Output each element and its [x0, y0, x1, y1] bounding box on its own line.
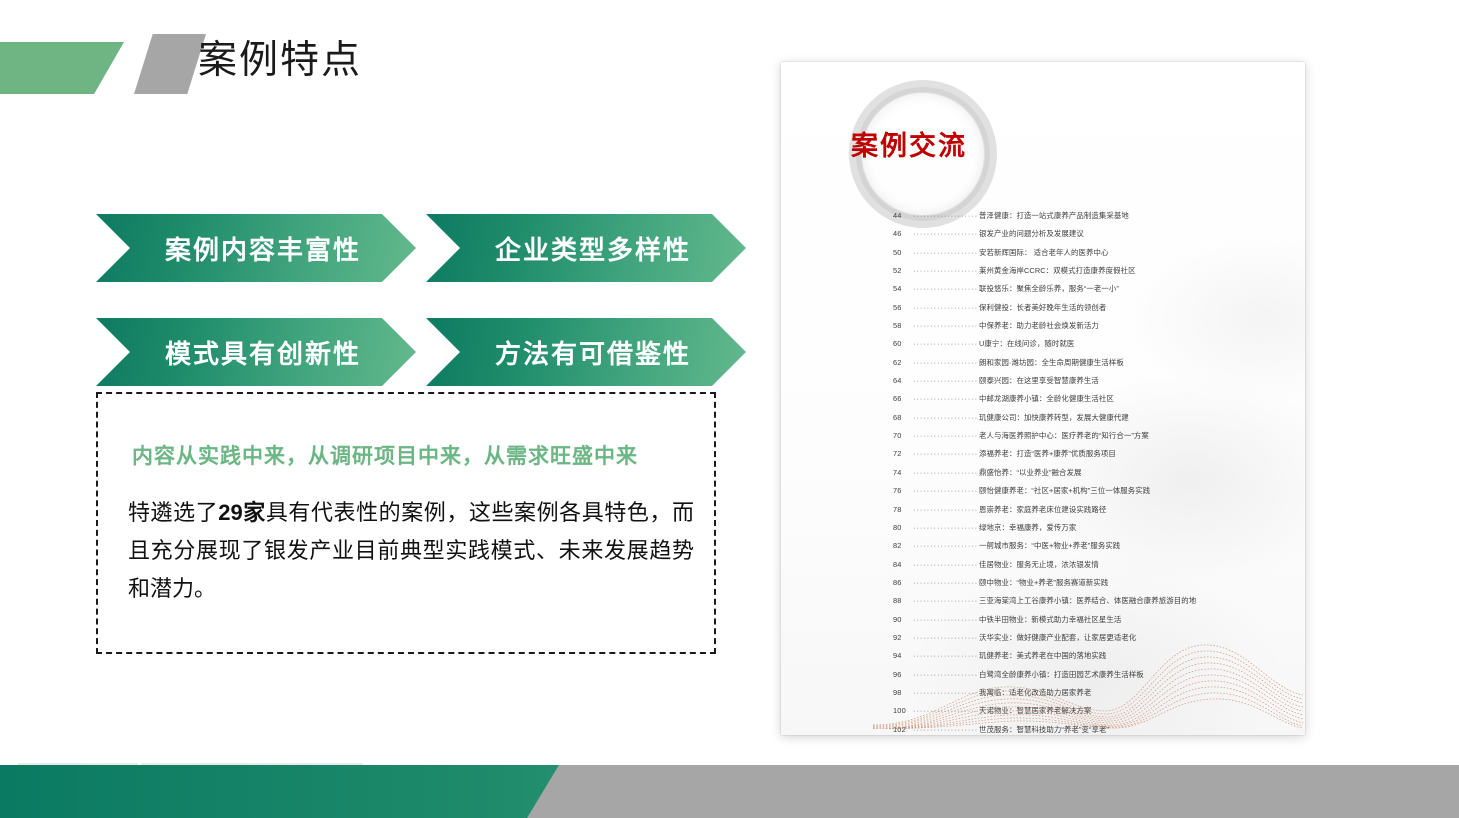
toc-entry-label: 绿地京：幸福康养，爱传万家	[979, 524, 1283, 531]
toc-entry-label: 银发产业的问题分析及发展建议	[979, 230, 1283, 237]
toc-page-number: 84	[893, 561, 913, 568]
toc-row: 44·······················普泽健康：打造一站式康养产品制…	[893, 212, 1283, 220]
toc-entry-label: 颐中物业：“物业+养老”服务赛道新实践	[979, 579, 1283, 586]
toc-page-number: 52	[893, 267, 913, 274]
toc-page-number: 72	[893, 450, 913, 457]
toc-page-number: 90	[893, 616, 913, 623]
toc-page-number: 82	[893, 542, 913, 549]
toc-leader-dots: ·······················	[913, 378, 979, 385]
toc-row: 50·······················安若新辉国际： 适合老年人的医…	[893, 249, 1283, 257]
toc-page-number: 46	[893, 230, 913, 237]
toc-leader-dots: ·······················	[913, 617, 979, 624]
mountain-wave-decoration	[873, 625, 1303, 729]
toc-leader-dots: ·······················	[913, 525, 979, 532]
toc-page-number: 78	[893, 506, 913, 513]
toc-page-number: 64	[893, 377, 913, 384]
chevron-banner-1[interactable]: 案例内容丰富性	[96, 214, 416, 282]
toc-page-number: 80	[893, 524, 913, 531]
toc-row: 64·······················颐泰兴园：在这里享受智慧康养生…	[893, 377, 1283, 385]
toc-entry-label: 老人与海医养照护中心：医疗养老的“知行合一”方案	[979, 432, 1283, 439]
chevron-label-1: 案例内容丰富性	[96, 230, 416, 267]
toc-row: 82·······················一舸城市服务：“中医+物业+养…	[893, 542, 1283, 550]
toc-page-number: 66	[893, 395, 913, 402]
toc-row: 68·······················玑健康公司：加快康养转型，发展…	[893, 414, 1283, 422]
toc-entry-label: U康宁：在线问诊，随时就医	[979, 340, 1283, 347]
toc-page-number: 86	[893, 579, 913, 586]
footer-bar	[0, 765, 1459, 818]
toc-leader-dots: ·······················	[913, 598, 979, 605]
toc-leader-dots: ·······················	[913, 213, 979, 220]
toc-page-number: 62	[893, 359, 913, 366]
toc-row: 74·······················鼎盛怡养：“以业养业”融合发展	[893, 469, 1283, 477]
toc-entry-label: 中保养老：助力老龄社会焕发新活力	[979, 322, 1283, 329]
toc-leader-dots: ·······················	[913, 543, 979, 550]
toc-leader-dots: ·······················	[913, 268, 979, 275]
chevron-banner-3[interactable]: 模式具有创新性	[96, 318, 416, 386]
toc-page-number: 74	[893, 469, 913, 476]
callout-box: 内容从实践中来，从调研项目中来，从需求旺盛中来 特遴选了29家具有代表性的案例，…	[96, 392, 716, 654]
toc-row: 52·······················莱州黄金海岸CCRC：双模式打…	[893, 267, 1283, 275]
toc-entry-label: 朗和家园·潍坊园：全生命周期健康生活样板	[979, 359, 1283, 366]
toc-leader-dots: ·······················	[913, 360, 979, 367]
toc-page-number: 44	[893, 212, 913, 219]
toc-entry-label: 颐怡健康养老：“社区+居家+机构”三位一体服务实践	[979, 487, 1283, 494]
chevron-label-2: 企业类型多样性	[426, 230, 746, 267]
toc-leader-dots: ·······················	[913, 305, 979, 312]
header-green-shape	[0, 42, 124, 94]
toc-entry-label: 中邮龙湖康养小镇：全龄化健康生活社区	[979, 395, 1283, 402]
toc-entry-label: 联投悠乐：聚焦全龄乐养，服务“一老一小”	[979, 285, 1283, 292]
toc-leader-dots: ·······················	[913, 507, 979, 514]
toc-row: 54·······················联投悠乐：聚焦全龄乐养，服务“…	[893, 285, 1283, 293]
slide-root: 案例特点 案例内容丰富性 企业类型多样性 模式具有创新性 方法有可借鉴性 内容从…	[0, 0, 1459, 818]
toc-row: 84·······················佳居物业：服务无止境，浓浓银发…	[893, 561, 1283, 569]
toc-page-number: 50	[893, 249, 913, 256]
toc-leader-dots: ·······················	[913, 433, 979, 440]
toc-entry-label: 安若新辉国际： 适合老年人的医养中心	[979, 249, 1283, 256]
toc-leader-dots: ·······················	[913, 231, 979, 238]
toc-row: 56·······················保利健投：长者美好晚年生活的领…	[893, 304, 1283, 312]
callout-heading: 内容从实践中来，从调研项目中来，从需求旺盛中来	[132, 440, 692, 470]
toc-row: 76·······················颐怡健康养老：“社区+居家+机…	[893, 487, 1283, 495]
toc-row: 78·······················恩崇养老：家庭养老床位建设实践…	[893, 506, 1283, 514]
toc-page-number: 68	[893, 414, 913, 421]
toc-row: 72·······················添福养老：打造“医养+康养”优…	[893, 450, 1283, 458]
callout-body-prefix: 特遴选了	[128, 500, 218, 525]
toc-entry-label: 中铁半田物业：新模式助力幸福社区星生活	[979, 616, 1283, 623]
header-gray-shape	[134, 34, 206, 94]
toc-leader-dots: ·······················	[913, 341, 979, 348]
chevron-label-3: 模式具有创新性	[96, 334, 416, 371]
toc-entry-label: 玑健康公司：加快康养转型，发展大健康代建	[979, 414, 1283, 421]
toc-entry-label: 一舸城市服务：“中医+物业+养老”服务实践	[979, 542, 1283, 549]
toc-leader-dots: ·······················	[913, 451, 979, 458]
toc-entry-label: 三亚海棠湾上工谷康养小镇：医养结合、体医融合康养旅游目的地	[979, 597, 1283, 604]
toc-row: 58·······················中保养老：助力老龄社会焕发新活…	[893, 322, 1283, 330]
toc-entry-label: 恩崇养老：家庭养老床位建设实践路径	[979, 506, 1283, 513]
toc-entry-label: 莱州黄金海岸CCRC：双模式打造康养度假社区	[979, 267, 1283, 274]
toc-leader-dots: ·······················	[913, 580, 979, 587]
callout-body: 特遴选了29家具有代表性的案例，这些案例各具特色，而且充分展现了银发产业目前典型…	[128, 494, 694, 607]
chevron-banner-2[interactable]: 企业类型多样性	[426, 214, 746, 282]
toc-page-number: 56	[893, 304, 913, 311]
toc-entry-label: 鼎盛怡养：“以业养业”融合发展	[979, 469, 1283, 476]
toc-row: 70·······················老人与海医养照护中心：医疗养老…	[893, 432, 1283, 440]
toc-page-number: 54	[893, 285, 913, 292]
toc-entry-label: 佳居物业：服务无止境，浓浓银发情	[979, 561, 1283, 568]
toc-leader-dots: ·······················	[913, 415, 979, 422]
toc-leader-dots: ·······················	[913, 562, 979, 569]
toc-page-number: 76	[893, 487, 913, 494]
toc-row: 62·······················朗和家园·潍坊园：全生命周期健…	[893, 359, 1283, 367]
callout-body-emphasis: 29家	[218, 500, 266, 525]
toc-row: 88·······················三亚海棠湾上工谷康养小镇：医养…	[893, 597, 1283, 605]
chevron-label-4: 方法有可借鉴性	[426, 334, 746, 371]
toc-row: 66·······················中邮龙湖康养小镇：全龄化健康生…	[893, 395, 1283, 403]
page-title: 案例特点	[198, 38, 362, 84]
toc-leader-dots: ·······················	[913, 470, 979, 477]
toc-page-number: 70	[893, 432, 913, 439]
chevron-banner-4[interactable]: 方法有可借鉴性	[426, 318, 746, 386]
toc-entry-label: 添福养老：打造“医养+康养”优质服务项目	[979, 450, 1283, 457]
toc-leader-dots: ·······················	[913, 250, 979, 257]
toc-row: 60·······················U康宁：在线问诊，随时就医	[893, 340, 1283, 348]
toc-page-number: 60	[893, 340, 913, 347]
toc-page-number: 88	[893, 597, 913, 604]
document-title: 案例交流	[851, 124, 967, 163]
toc-row: 90·······················中铁半田物业：新模式助力幸福社…	[893, 616, 1283, 624]
toc-page-number: 58	[893, 322, 913, 329]
toc-leader-dots: ·······················	[913, 396, 979, 403]
toc-entry-label: 保利健投：长者美好晚年生活的领创者	[979, 304, 1283, 311]
toc-leader-dots: ·······················	[913, 323, 979, 330]
chevron-group: 案例内容丰富性 企业类型多样性 模式具有创新性 方法有可借鉴性	[96, 214, 760, 386]
toc-row: 46·······················银发产业的问题分析及发展建议	[893, 230, 1283, 238]
toc-entry-label: 普泽健康：打造一站式康养产品制造集采基地	[979, 212, 1283, 219]
toc-entry-label: 颐泰兴园：在这里享受智慧康养生活	[979, 377, 1283, 384]
document-preview: 案例交流 44·······················普泽健康：打造一站式…	[781, 62, 1305, 735]
toc-row: 86·······················颐中物业：“物业+养老”服务赛…	[893, 579, 1283, 587]
toc-leader-dots: ·······················	[913, 286, 979, 293]
toc-leader-dots: ·······················	[913, 488, 979, 495]
toc-row: 80·······················绿地京：幸福康养，爱传万家	[893, 524, 1283, 532]
